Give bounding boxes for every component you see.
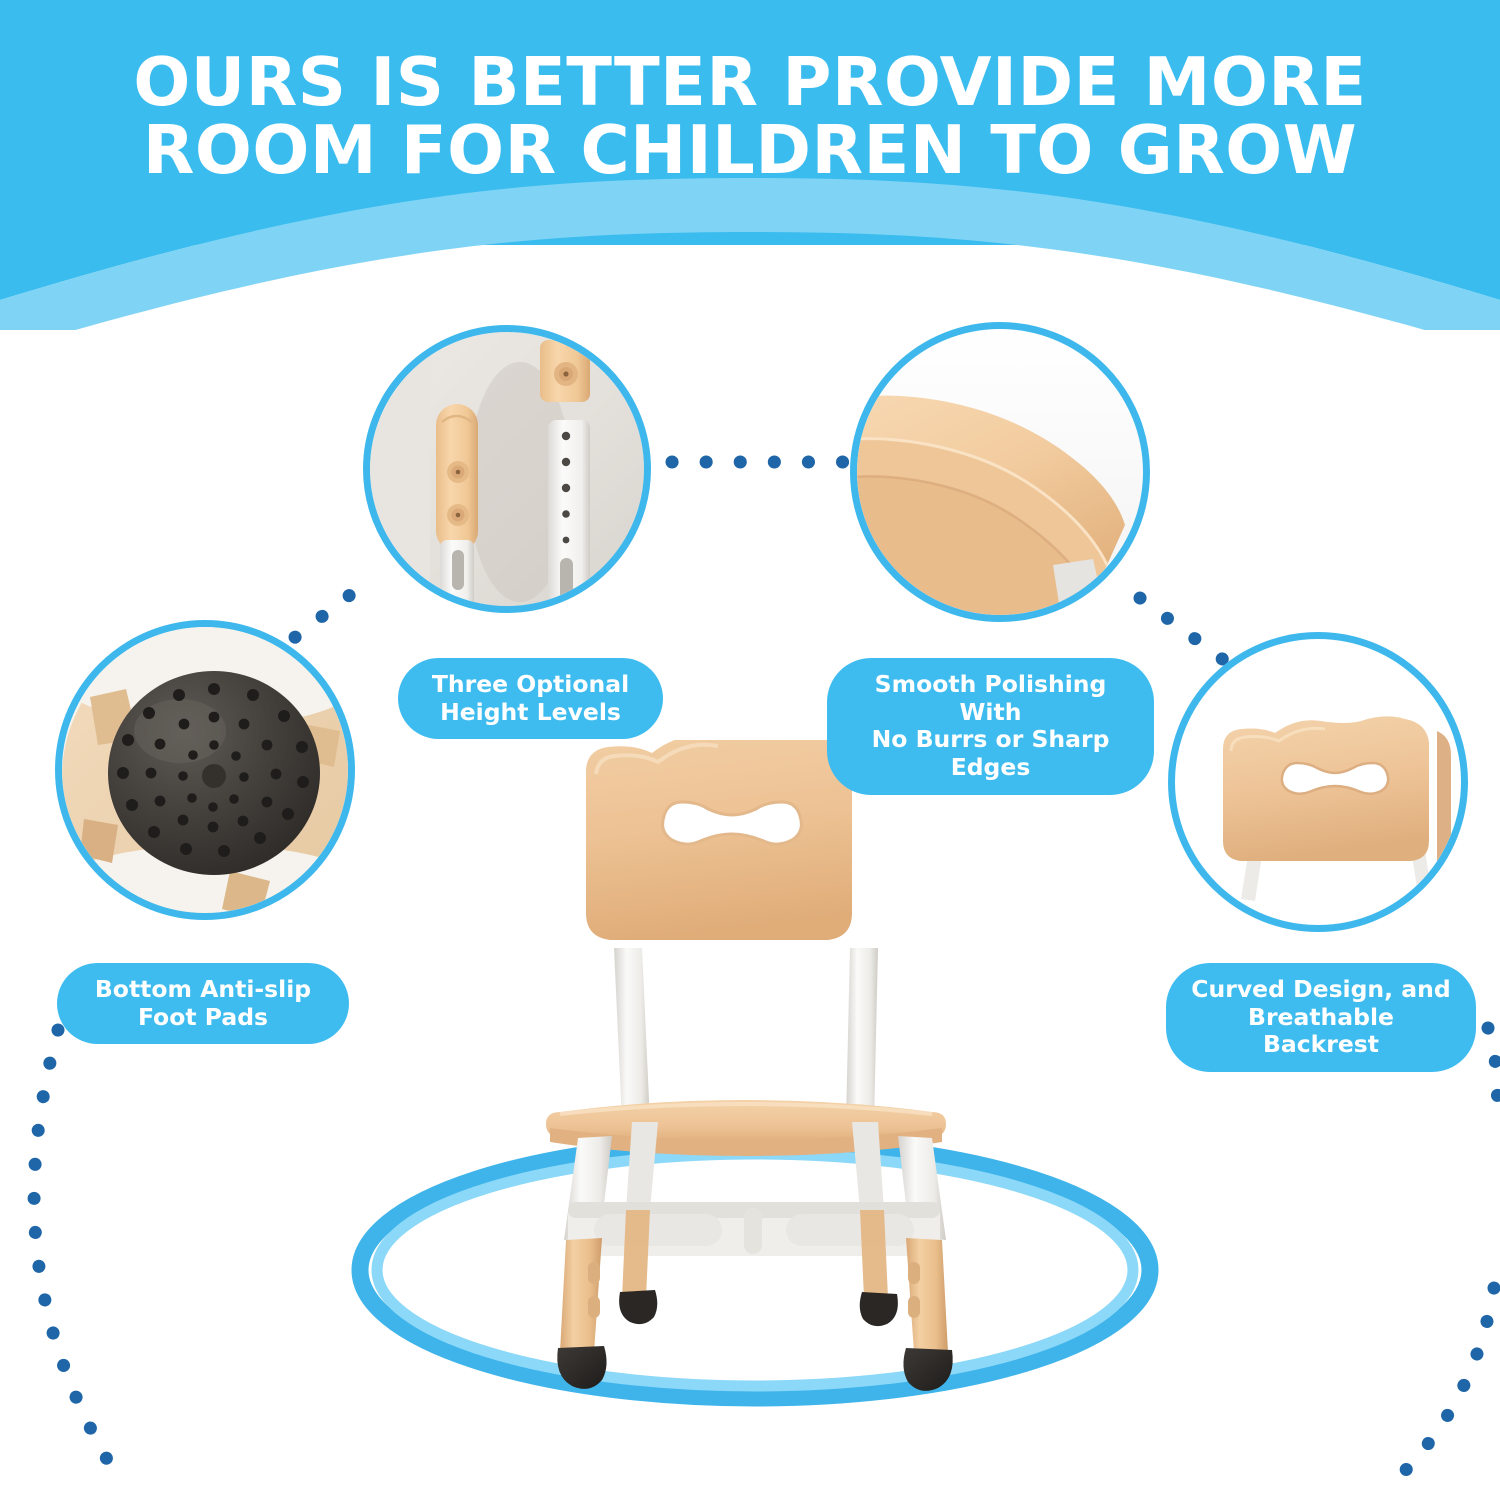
feature-circle-curved-backrest [1168, 632, 1468, 932]
product-chair-image [350, 740, 1160, 1420]
feature-label-foot-pads: Bottom Anti-slip Foot Pads [57, 963, 349, 1044]
curved-backrest-photo [1175, 639, 1461, 925]
chair-frame-back-posts [614, 948, 878, 1122]
chair-backrest [586, 740, 852, 940]
dotted-arc-bottom-left [34, 1030, 118, 1478]
feature-label-curved-backrest: Curved Design, and Breathable Backrest [1166, 963, 1476, 1072]
dotted-arc-bottom-right-upper [1488, 1028, 1497, 1118]
feature-label-smooth-polishing: Smooth Polishing With No Burrs or Sharp … [827, 658, 1154, 795]
seat-edge-closeup-photo [857, 329, 1143, 615]
feature-circle-height-levels [363, 325, 651, 613]
header-banner [0, 0, 1500, 330]
highlight-ellipse [360, 1142, 1150, 1398]
feature-label-height-levels: Three Optional Height Levels [398, 658, 663, 739]
header-background-shape [0, 0, 1500, 330]
feature-circle-smooth-polishing [850, 322, 1150, 622]
infographic-page: OURS IS BETTER PROVIDE MORE ROOM FOR CHI… [0, 0, 1500, 1498]
chair-leg-height-adjustment-photo [370, 332, 644, 606]
feature-circle-foot-pads [55, 620, 355, 920]
anti-slip-foot-pad-photo [62, 627, 348, 913]
dotted-arc-bottom-right-lower [1398, 1288, 1494, 1478]
